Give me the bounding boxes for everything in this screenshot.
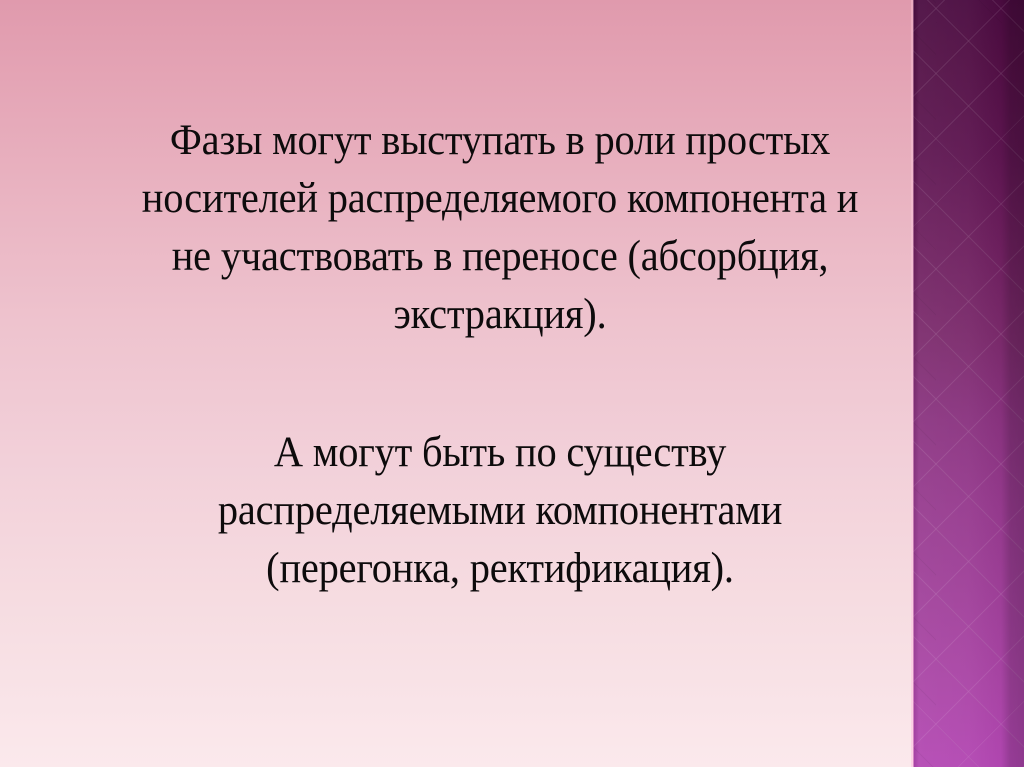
slide-canvas: Фазы могут выступать в роли простых носи… xyxy=(0,0,1024,767)
body-paragraph-two: А могут быть по существу распределяемыми… xyxy=(30,424,970,598)
body-paragraph-one: Фазы могут выступать в роли простых носи… xyxy=(30,112,970,344)
slide-text-layer: Фазы могут выступать в роли простых носи… xyxy=(0,0,1024,767)
